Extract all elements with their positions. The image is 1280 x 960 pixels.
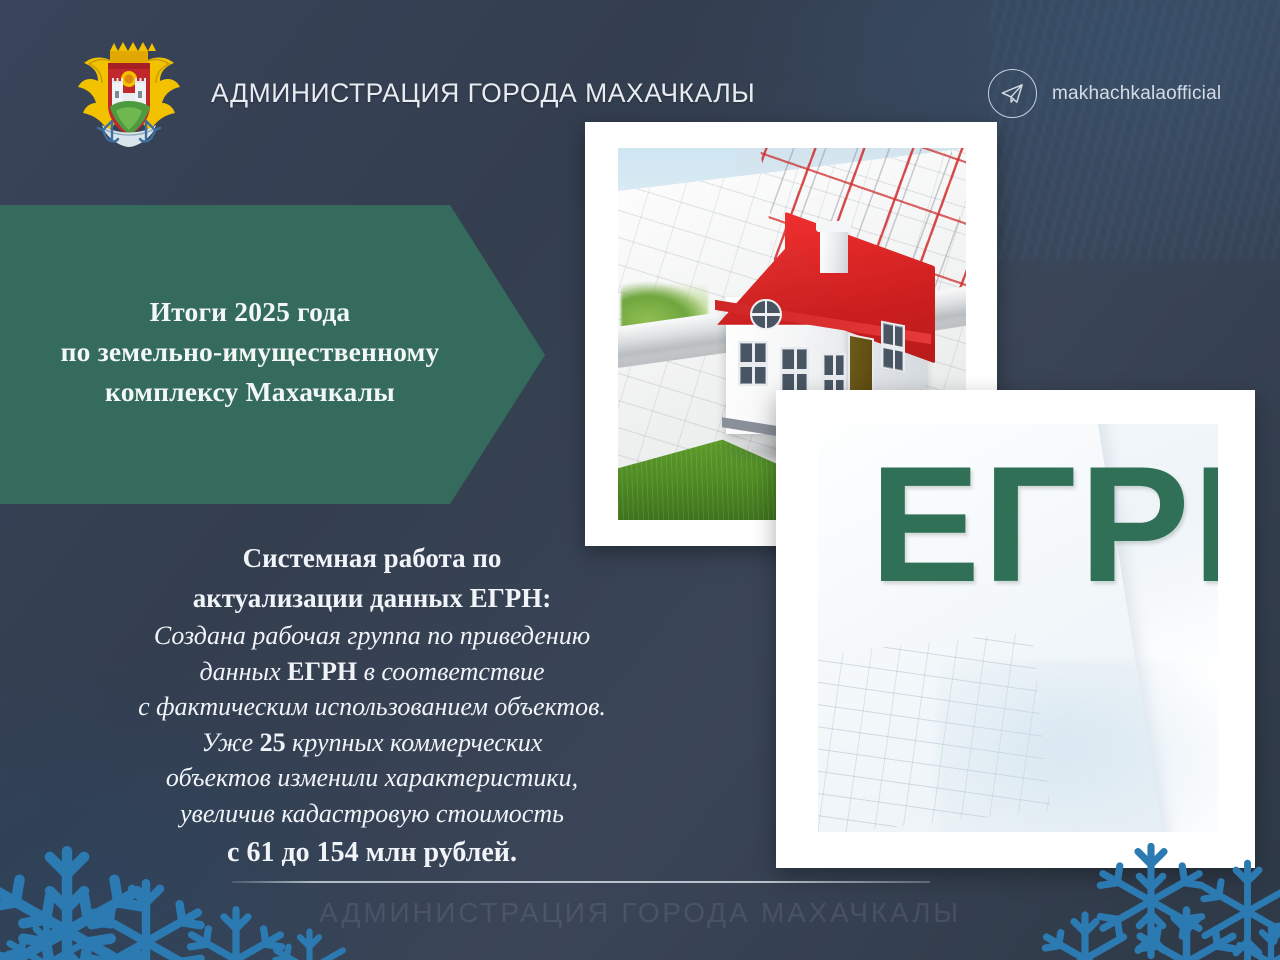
- snowflake-icon: [262, 922, 357, 960]
- coat-of-arms-icon: [68, 37, 190, 149]
- snowflake-icon: [1190, 854, 1280, 960]
- para-4-post: крупных коммерческих: [286, 728, 543, 757]
- para-3-pre: с фактическим использованием объектов.: [138, 692, 606, 721]
- photo-window-2: [780, 347, 810, 395]
- body-heading-line-1: Системная работа по: [88, 538, 656, 578]
- para-4-bold: 25: [260, 728, 286, 757]
- photo-oval-window: [750, 299, 781, 331]
- snowflake-icon: [76, 872, 216, 960]
- photo-window-1: [738, 341, 768, 386]
- para-4-pre: Уже: [202, 728, 260, 757]
- banner-line-1: Итоги 2025 года: [0, 292, 500, 332]
- page-title: АДМИНИСТРАЦИЯ ГОРОДА МАХАЧКАЛЫ: [211, 78, 755, 109]
- body-paragraph-line-2: данных ЕГРН в соответствие: [88, 654, 656, 690]
- egrn-label: ЕГРН: [870, 442, 1218, 607]
- snowflake-icon: [176, 900, 296, 960]
- photo-chimney-cap: [816, 221, 851, 233]
- slide-canvas: АДМИНИСТРАЦИЯ ГОРОДА МАХАЧКАЛЫ makhachka…: [0, 0, 1280, 960]
- body-heading-line-2: актуализации данных ЕГРН:: [88, 578, 656, 618]
- body-total-line: с 61 до 154 млн рублей.: [88, 831, 656, 874]
- para-1-pre: Создана рабочая группа по приведению: [154, 621, 590, 650]
- body-paragraph-line-5: объектов изменили характеристики,: [88, 760, 656, 796]
- telegram-link[interactable]: makhachkalaofficial: [988, 69, 1221, 118]
- para-2-post: в соответствие: [357, 657, 544, 686]
- snowflake-icon: [1124, 900, 1249, 960]
- para-2-pre: данных: [200, 657, 288, 686]
- snowflake-icon: [1030, 904, 1140, 960]
- para-6-pre: увеличив кадастровую стоимость: [180, 799, 564, 828]
- body-text-block: Системная работа по актуализации данных …: [88, 538, 656, 874]
- body-paragraph-line-3: с фактическим использованием объектов.: [88, 689, 656, 725]
- egrn-light-wash: [938, 661, 1218, 832]
- snowflake-icon: [0, 912, 99, 960]
- egrn-photo-card: ЕГРН: [776, 390, 1255, 868]
- para-2-bold: ЕГРН: [287, 657, 357, 686]
- banner-text: Итоги 2025 года по земельно-имущественно…: [0, 292, 500, 412]
- body-paragraph-line-4: Уже 25 крупных коммерческих: [88, 725, 656, 761]
- banner-line-3: комплексу Махачкалы: [0, 372, 500, 412]
- divider-line: [232, 881, 930, 883]
- footer-watermark: АДМИНИСТРАЦИЯ ГОРОДА МАХАЧКАЛЫ: [0, 897, 1280, 929]
- para-5-pre: объектов изменили характеристики,: [166, 763, 578, 792]
- snowflake-icon: [1226, 918, 1280, 960]
- egrn-document-photo: ЕГРН: [818, 424, 1218, 832]
- telegram-handle: makhachkalaofficial: [1052, 83, 1221, 105]
- photo-window-4: [881, 320, 905, 373]
- banner-line-2: по земельно-имущественному: [0, 332, 500, 372]
- telegram-icon: [988, 69, 1037, 118]
- body-paragraph-line-1: Создана рабочая группа по приведению: [88, 618, 656, 654]
- body-paragraph-line-6: увеличив кадастровую стоимость: [88, 796, 656, 832]
